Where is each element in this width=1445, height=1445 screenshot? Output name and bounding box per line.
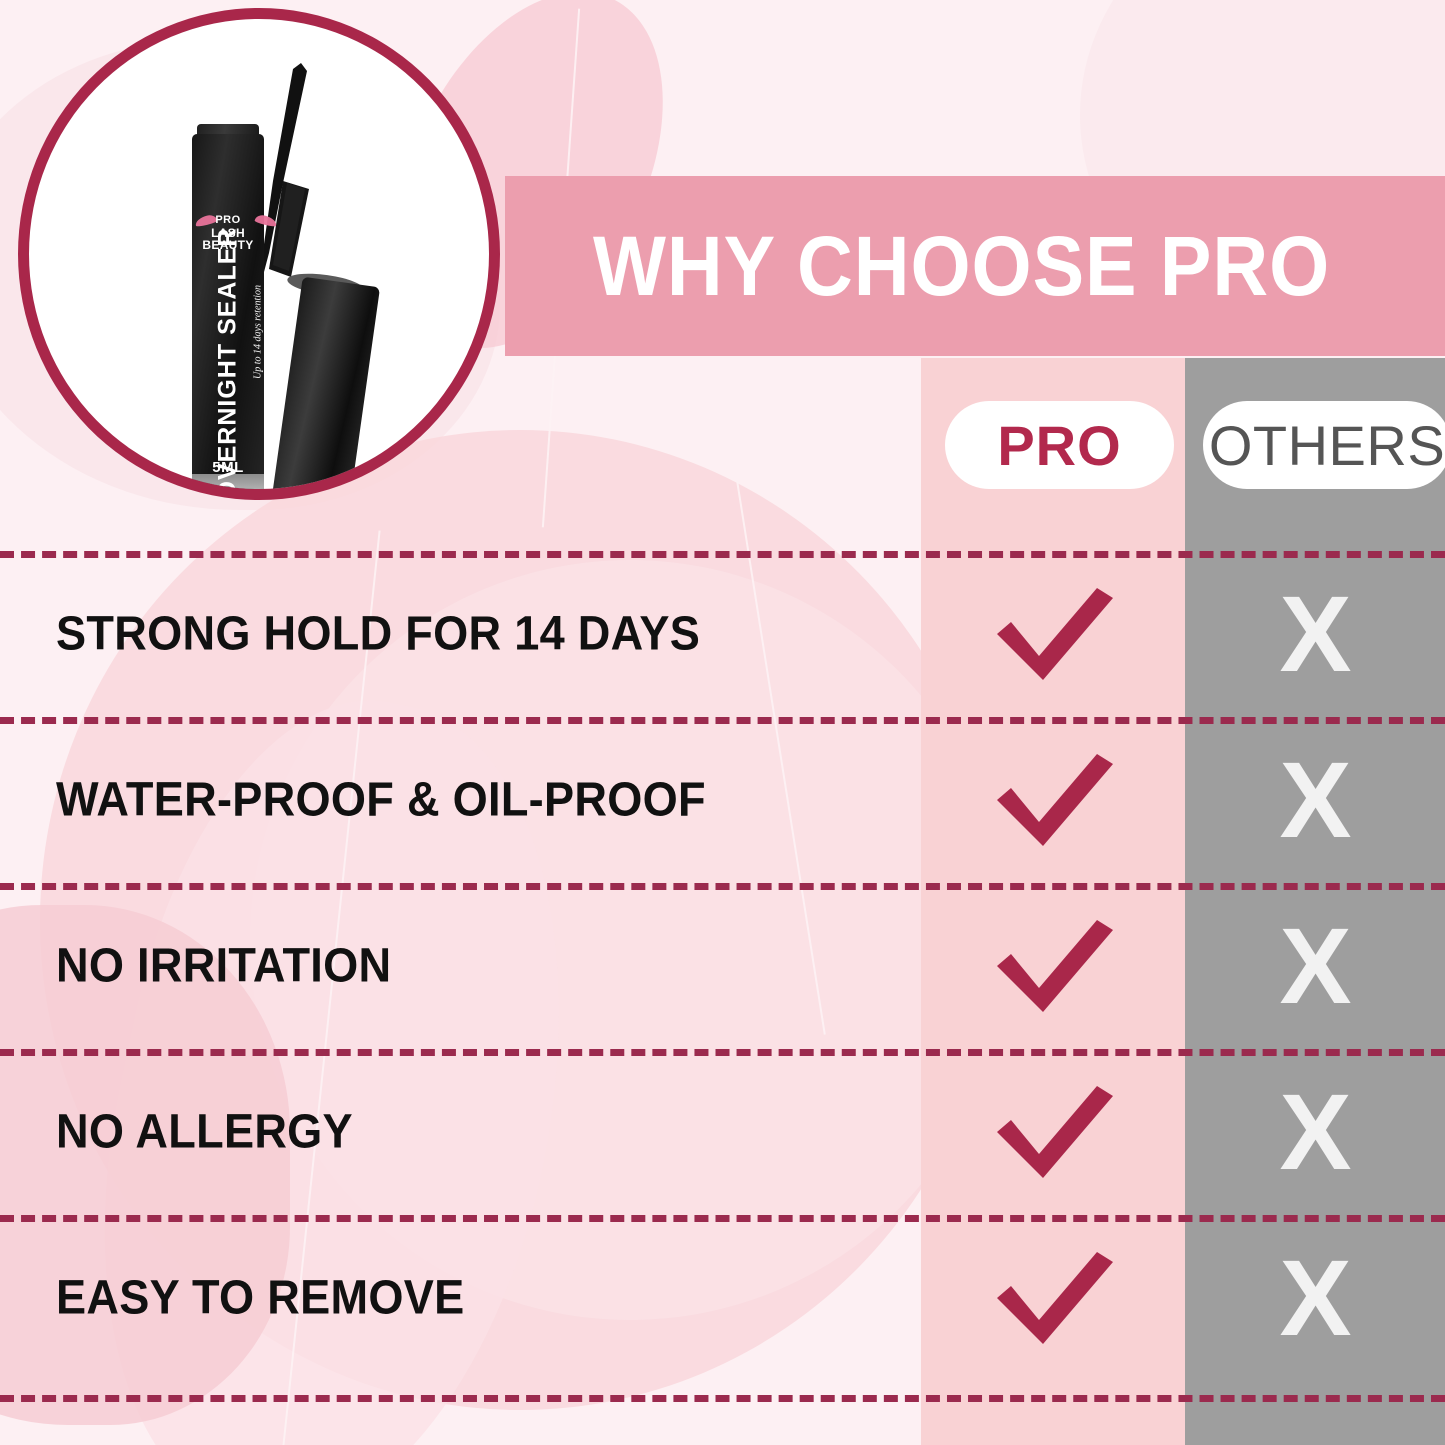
others-column-header-pill: OTHERS	[1203, 401, 1445, 489]
table-row: STRONG HOLD FOR 14 DAYS X	[0, 551, 1445, 717]
feature-label: NO ALLERGY	[56, 1105, 353, 1160]
table-row: WATER-PROOF & OIL-PROOF X	[0, 717, 1445, 883]
x-icon: X	[1258, 918, 1373, 1014]
pro-column-label: PRO	[997, 413, 1121, 478]
feature-label: STRONG HOLD FOR 14 DAYS	[56, 607, 700, 662]
x-icon: X	[1258, 586, 1373, 682]
x-icon: X	[1258, 1084, 1373, 1180]
product-tagline-text: Up to 14 days retention	[253, 285, 264, 379]
infographic-canvas: WHY CHOOSE PRO PRO	[0, 0, 1445, 1445]
product-tagline-vertical: Up to 14 days retention	[235, 267, 281, 397]
brand-line-1: PRO	[192, 215, 264, 227]
pro-column-header-pill: PRO	[945, 401, 1174, 489]
product-photo: PRO LASH BEAUTY OVERNIGHT SEALER Up to 1…	[29, 19, 489, 489]
product-image-circle: PRO LASH BEAUTY OVERNIGHT SEALER Up to 1…	[18, 8, 500, 500]
feature-label: EASY TO REMOVE	[56, 1271, 464, 1326]
check-icon	[995, 918, 1115, 1014]
x-icon: X	[1258, 752, 1373, 848]
others-column-label: OTHERS	[1209, 413, 1445, 478]
product-volume: 5ML	[192, 459, 264, 476]
check-icon	[995, 586, 1115, 682]
table-row: NO ALLERGY X	[0, 1049, 1445, 1215]
check-icon	[995, 752, 1115, 848]
check-icon	[995, 1084, 1115, 1180]
bottle-cap	[272, 277, 380, 500]
x-icon: X	[1258, 1250, 1373, 1346]
feature-label: WATER-PROOF & OIL-PROOF	[56, 773, 706, 828]
feature-label: NO IRRITATION	[56, 939, 391, 994]
table-row: EASY TO REMOVE X	[0, 1215, 1445, 1381]
table-row: NO IRRITATION X	[0, 883, 1445, 1049]
check-icon	[995, 1250, 1115, 1346]
row-divider	[0, 1395, 1445, 1402]
